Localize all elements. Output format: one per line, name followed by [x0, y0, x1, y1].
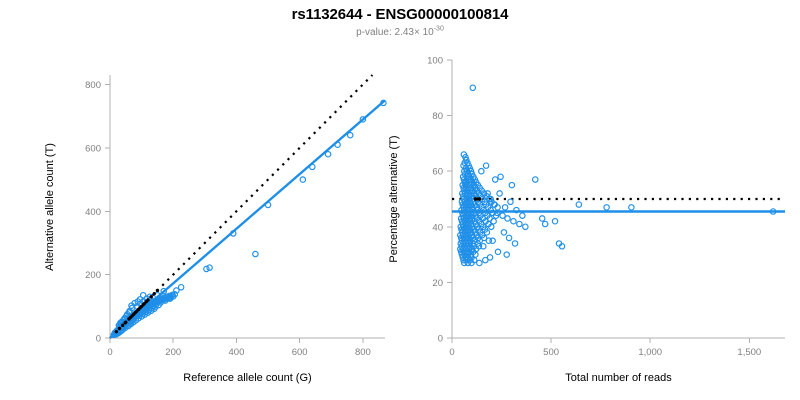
svg-text:200: 200 [165, 347, 181, 358]
svg-text:60: 60 [432, 167, 443, 178]
svg-text:40: 40 [432, 222, 443, 233]
svg-text:1,000: 1,000 [638, 347, 662, 358]
svg-text:400: 400 [229, 347, 245, 358]
panel-right: Percentage alternative (T) Total number … [400, 0, 800, 400]
left-scatter-plot: 02004006008000200400600800 [0, 0, 400, 400]
svg-text:0: 0 [96, 334, 101, 345]
svg-text:0: 0 [449, 347, 454, 358]
reference-points [474, 197, 481, 200]
svg-text:400: 400 [85, 207, 101, 218]
data-points [458, 85, 776, 266]
svg-text:1,500: 1,500 [737, 347, 761, 358]
right-y-axis-label: Percentage alternative (T) [388, 135, 400, 262]
svg-text:600: 600 [85, 143, 101, 154]
svg-text:20: 20 [432, 278, 443, 289]
panel-left: Alternative allele count (T) Reference a… [0, 0, 400, 400]
svg-text:0: 0 [438, 334, 443, 345]
svg-text:600: 600 [292, 347, 308, 358]
svg-text:200: 200 [85, 270, 101, 281]
svg-text:80: 80 [432, 111, 443, 122]
figure-root: rs1132644 - ENSG00000100814 p-value: 2.4… [0, 0, 800, 400]
svg-text:500: 500 [543, 347, 559, 358]
svg-text:0: 0 [107, 347, 112, 358]
svg-text:100: 100 [427, 56, 443, 67]
right-scatter-plot: 05001,0001,500020406080100 [400, 0, 800, 400]
svg-text:800: 800 [355, 347, 371, 358]
svg-text:800: 800 [85, 80, 101, 91]
